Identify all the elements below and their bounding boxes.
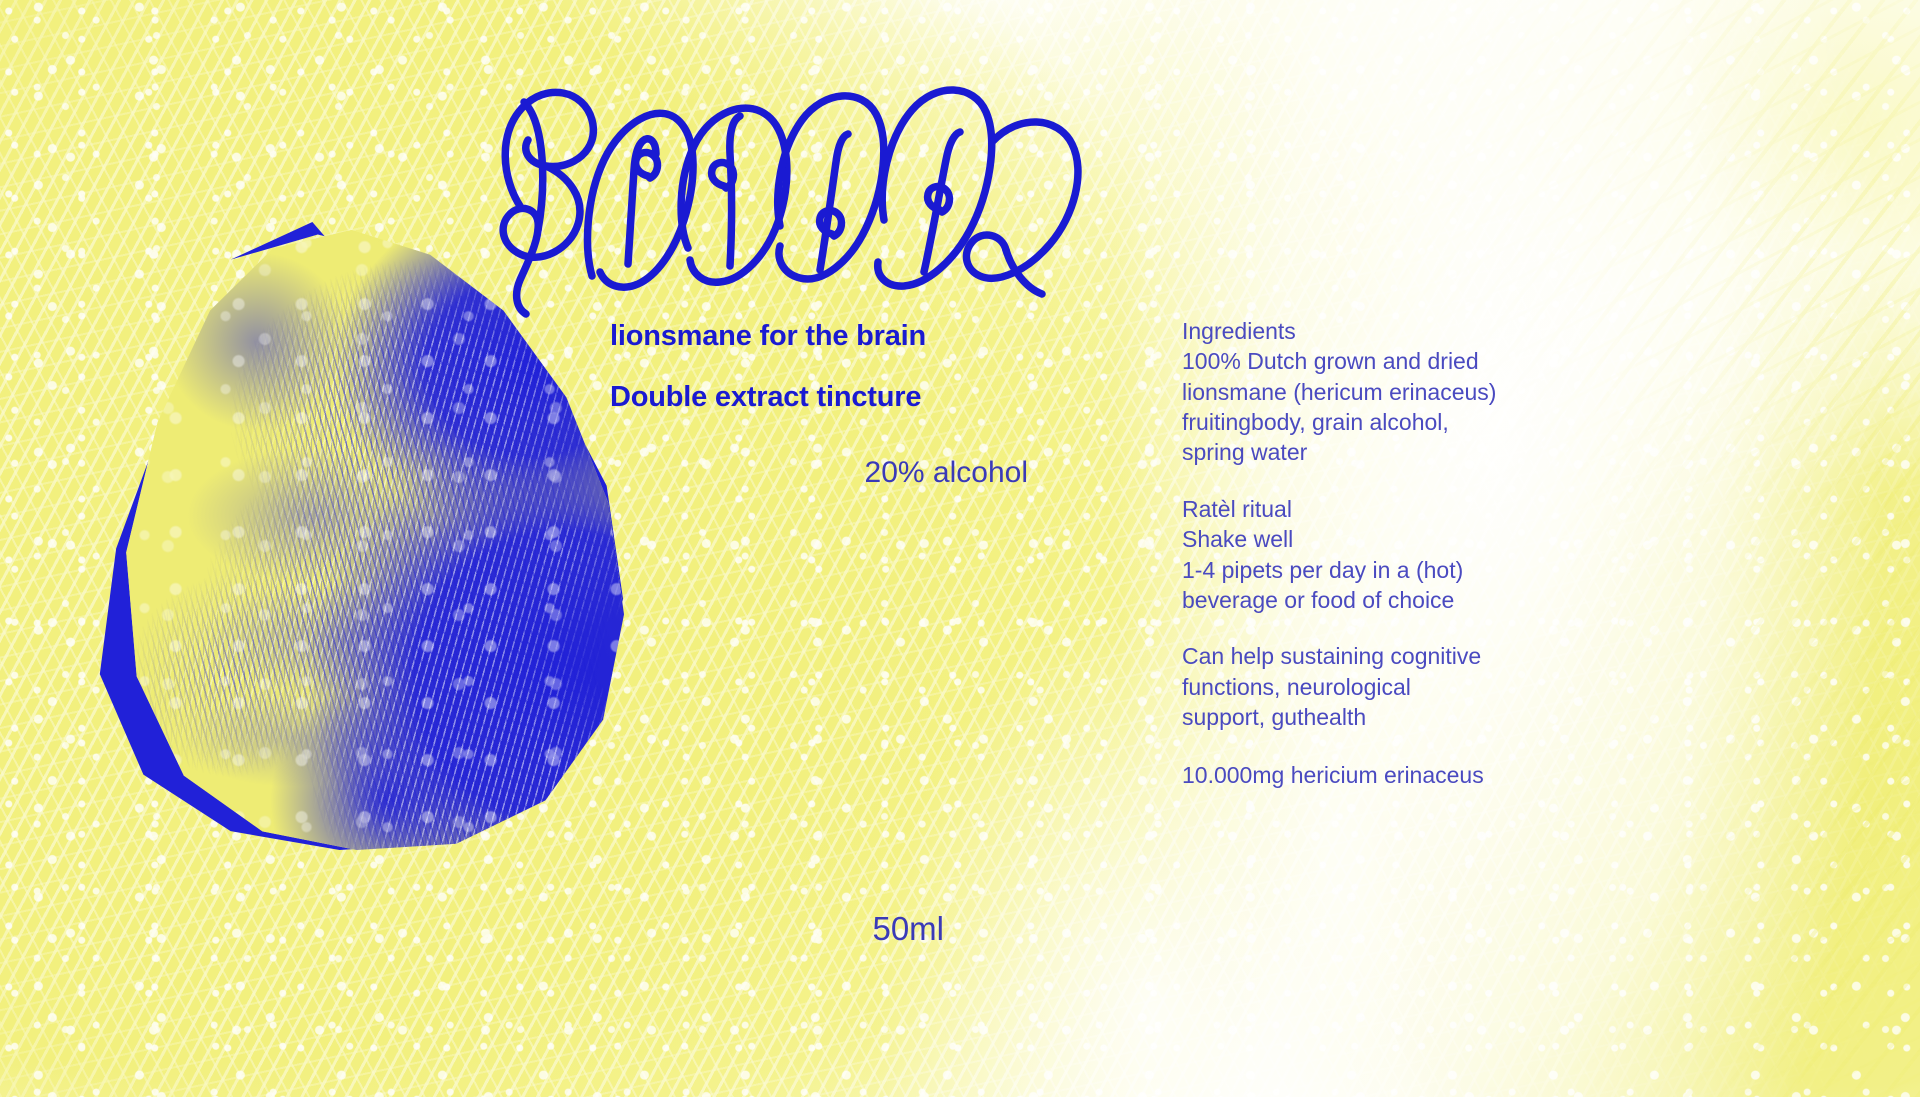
ritual-line: 1-4 pipets per day in a (hot) bbox=[1182, 555, 1582, 585]
ingredients-line: spring water bbox=[1182, 437, 1582, 467]
ingredients-line: fruitingbody, grain alcohol, bbox=[1182, 407, 1582, 437]
mushroom-highlights bbox=[100, 230, 624, 850]
mushroom-body bbox=[100, 230, 624, 850]
ritual-block: Ratèl ritual Shake well 1-4 pipets per d… bbox=[1182, 494, 1582, 615]
ingredients-heading: Ingredients bbox=[1182, 316, 1582, 346]
ritual-heading: Ratèl ritual bbox=[1182, 494, 1582, 524]
alcohol-percentage: 20% alcohol bbox=[610, 456, 1030, 490]
benefits-line: Can help sustaining cognitive bbox=[1182, 641, 1582, 671]
dosage-block: 10.000mg hericium erinaceus bbox=[1182, 760, 1582, 790]
tagline-primary: lionsmane for the brain bbox=[610, 320, 1030, 354]
dosage-line: 10.000mg hericium erinaceus bbox=[1182, 760, 1582, 790]
tagline-secondary: Double extract tincture bbox=[610, 381, 1030, 415]
benefits-line: functions, neurological bbox=[1182, 672, 1582, 702]
product-info-column: Ingredients 100% Dutch grown and dried l… bbox=[1182, 316, 1582, 791]
ritual-line: Shake well bbox=[1182, 524, 1582, 554]
product-label-canvas: lionsmane for the brain Double extract t… bbox=[0, 0, 1920, 1097]
ingredients-block: Ingredients 100% Dutch grown and dried l… bbox=[1182, 316, 1582, 468]
ingredients-line: 100% Dutch grown and dried bbox=[1182, 346, 1582, 376]
volume-label: 50ml bbox=[610, 910, 1030, 948]
ratel-logo-wordmark bbox=[480, 58, 1120, 323]
ingredients-line: lionsmane (hericum erinaceus) bbox=[1182, 377, 1582, 407]
benefits-block: Can help sustaining cognitive functions,… bbox=[1182, 641, 1582, 732]
center-copy-column: lionsmane for the brain Double extract t… bbox=[610, 320, 1030, 490]
benefits-line: support, guthealth bbox=[1182, 702, 1582, 732]
ritual-line: beverage or food of choice bbox=[1182, 585, 1582, 615]
